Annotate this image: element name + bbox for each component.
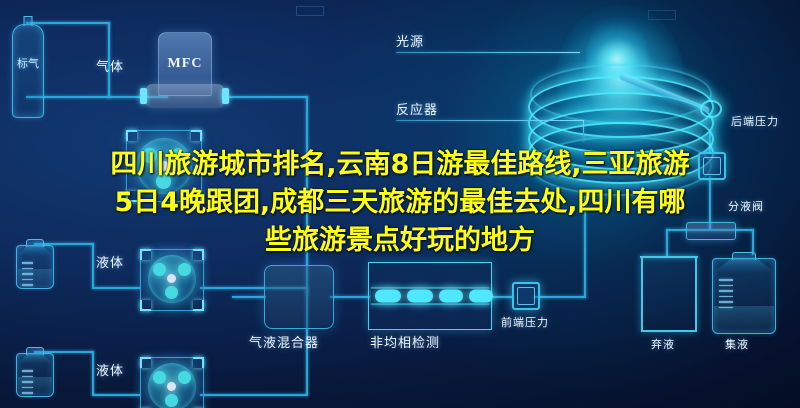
pump-corner-tr (191, 130, 202, 141)
bottle-fill (18, 269, 52, 287)
collected-liquid-label: 集液 (725, 336, 749, 352)
pump-corner-bl (126, 191, 137, 202)
waste-liquid-label: 弃液 (651, 336, 675, 352)
pump-hub (167, 274, 176, 283)
pump-roller (142, 148, 157, 163)
waste-liquid-beaker[interactable] (641, 258, 697, 332)
gas-label-1: 气体 (96, 56, 124, 75)
pump-corner-bl (140, 300, 151, 311)
mfc-outlet-cap (222, 88, 229, 104)
bottle-fill (714, 306, 774, 332)
flow-slug (439, 290, 463, 303)
bottle-cap (26, 239, 44, 247)
pump-rotor-2 (148, 363, 196, 408)
pump-corner-tl (140, 357, 151, 368)
pump-roller (165, 394, 178, 407)
pump-roller (165, 286, 178, 299)
bottle-cap (732, 252, 756, 260)
flow-slug (469, 290, 493, 303)
mfc-inlet-cap (140, 88, 147, 104)
pump-hub (159, 161, 169, 171)
pump-roller (153, 263, 166, 276)
pump-roller (171, 148, 186, 163)
liquid-bottle-2[interactable] (16, 353, 54, 397)
pump-rotor-1 (148, 255, 196, 303)
reactor-leader (396, 120, 584, 121)
helical-reactor[interactable] (524, 58, 714, 198)
standard-gas-label: 标气 (13, 51, 43, 77)
front-pressure-label: 前端压力 (501, 314, 549, 330)
pump-rotor-0 (136, 138, 192, 194)
helix-ring (530, 136, 712, 196)
pump-roller (178, 263, 191, 276)
flow-slug (375, 290, 401, 303)
heterogeneous-detection-cell[interactable] (368, 262, 492, 330)
gas-liquid-mixer[interactable] (264, 265, 334, 329)
reactor-label: 反应器 (396, 99, 438, 118)
liquid-label-1: 液体 (96, 252, 124, 271)
pump-module-0[interactable] (126, 130, 202, 202)
collection-bottle[interactable] (712, 258, 776, 334)
liquid-label-2: 液体 (96, 360, 124, 379)
gas-liquid-mixer-label: 气液混合器 (249, 332, 319, 351)
light-source-leader (396, 52, 580, 53)
bottle-shoulder (713, 259, 775, 273)
cylinder-neck (24, 16, 33, 26)
mfc-body (146, 84, 224, 108)
bottle-fill (18, 377, 52, 395)
light-source-label: 光源 (396, 31, 424, 50)
front-pressure-sensor[interactable] (512, 282, 540, 310)
separation-valve-label: 分液阀 (728, 198, 764, 214)
detection-flow-track (371, 288, 489, 305)
bottle-shoulder (17, 246, 53, 256)
pump-roller (178, 371, 191, 384)
reactor-outlet-port (700, 100, 722, 118)
liquid-bottle-1[interactable] (16, 245, 54, 289)
diagram-canvas: 标气 气体 MFC 液体 (0, 0, 800, 408)
pump-roller (153, 371, 166, 384)
pump-corner-tr (193, 357, 204, 368)
bottle-shoulder (17, 354, 53, 364)
pump-roller (156, 174, 171, 189)
decor-bracket-top (296, 6, 324, 16)
standard-gas-cylinder[interactable]: 标气 (12, 24, 44, 118)
separation-valve[interactable] (686, 222, 736, 240)
pump-hub (167, 382, 176, 391)
heterogeneous-detection-label: 非均相检测 (370, 332, 440, 351)
back-pressure-label: 后端压力 (731, 113, 779, 129)
pump-corner-tl (140, 249, 151, 260)
pump-corner-tr (193, 249, 204, 260)
flow-slug (407, 290, 433, 303)
back-pressure-sensor[interactable] (698, 152, 726, 180)
pump-module-1[interactable] (140, 249, 204, 311)
reactor-leader-drop (583, 120, 584, 142)
pump-corner-br (193, 300, 204, 311)
mfc-label: MFC (159, 56, 211, 72)
pump-module-2[interactable] (140, 357, 204, 408)
pump-corner-tl (126, 130, 137, 141)
bottle-cap (26, 347, 44, 355)
pump-corner-br (191, 191, 202, 202)
